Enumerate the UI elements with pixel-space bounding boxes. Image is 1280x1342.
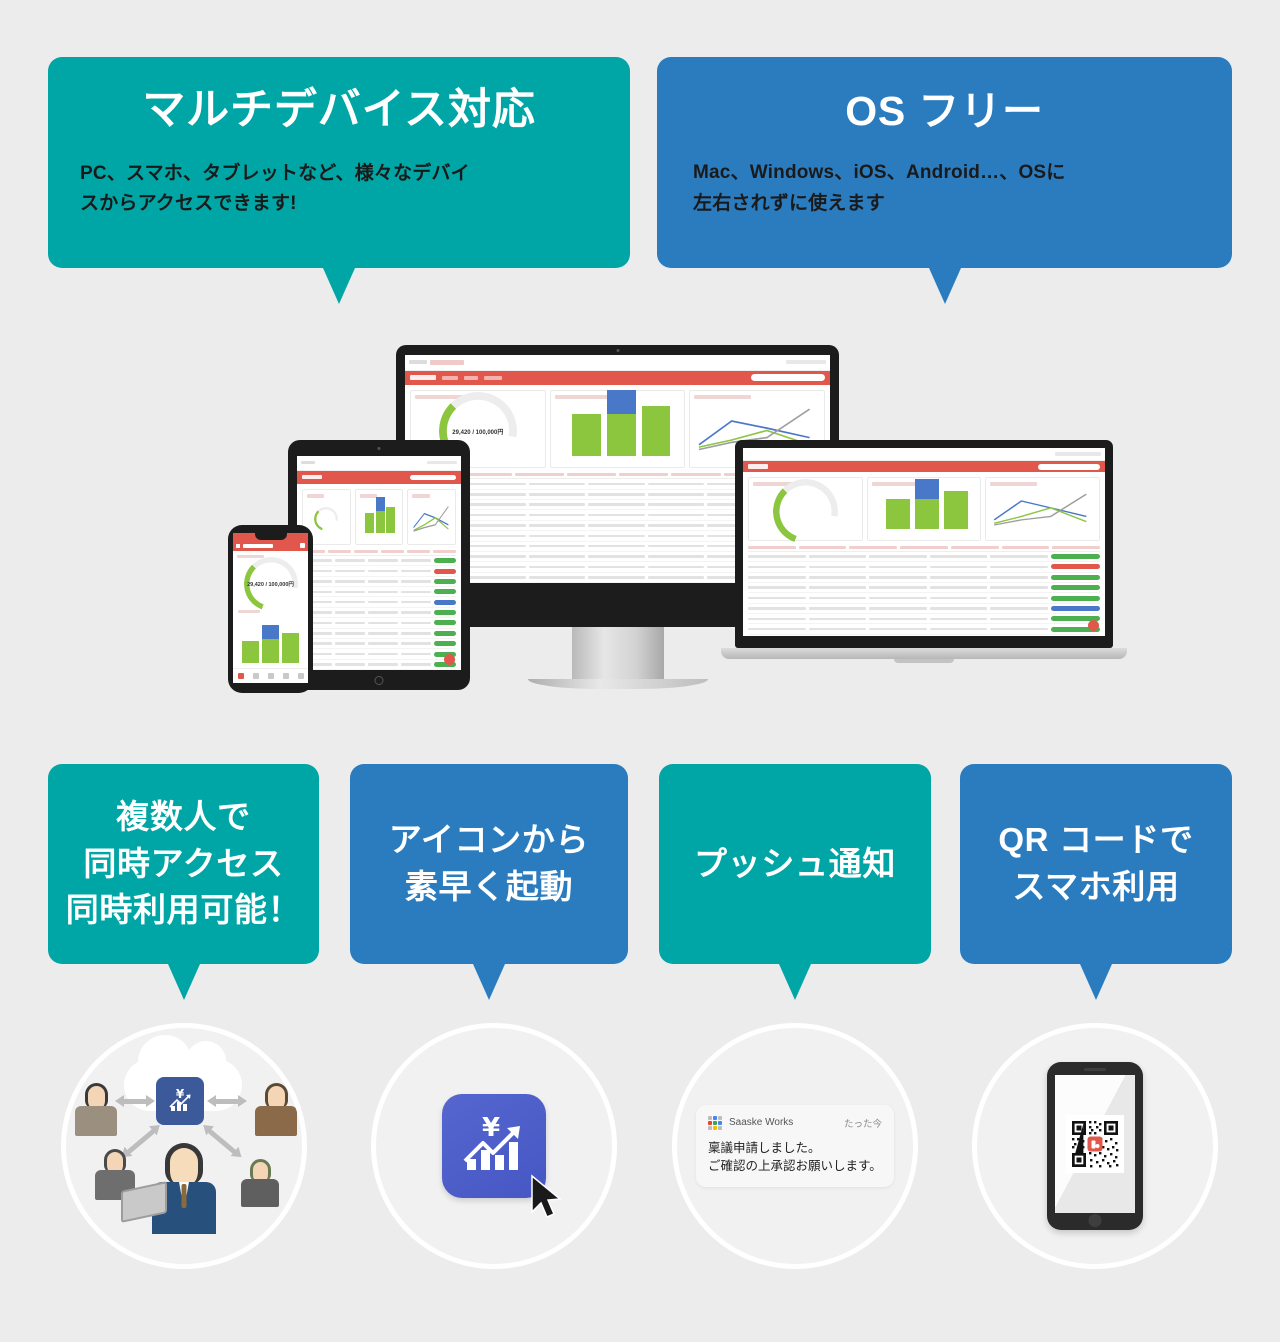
callout-title: マルチデバイス対応 (48, 57, 630, 137)
person-avatar (75, 1083, 117, 1136)
callout-line1: 複数人で (66, 794, 302, 841)
table-row[interactable] (302, 587, 456, 597)
bar-chart (555, 402, 681, 457)
callout-title: アイコンから 素早く起動 (350, 764, 628, 964)
widget-line-chart (985, 477, 1100, 540)
callout-line2: スマホ利用 (998, 864, 1193, 911)
device-mockup-group: 29,420 / 100,000円 (0, 330, 1280, 730)
callout-line1: QR コードで (998, 817, 1193, 864)
line-chart (990, 489, 1095, 528)
yen-growth-chart-app-icon[interactable]: ¥ (442, 1094, 546, 1198)
callout-line1: アイコンから (389, 817, 589, 864)
table-row[interactable] (302, 608, 456, 618)
callout-body-line1: PC、スマホ、タブレットなど、様々なデバイ (80, 159, 596, 189)
table-row[interactable] (748, 562, 1100, 572)
app-navigation-bar[interactable] (405, 371, 830, 385)
help-fab-button[interactable] (1088, 620, 1099, 631)
phone-speaker (1084, 1068, 1106, 1071)
callout-tail (1080, 964, 1112, 1000)
phone-notch (255, 533, 287, 540)
callout-body: PC、スマホ、タブレットなど、様々なデバイ スからアクセスできます! (48, 137, 630, 220)
line-chart (412, 501, 451, 533)
table-row[interactable] (302, 629, 456, 639)
notification-app-name: Saaske Works (729, 1117, 793, 1128)
table-row[interactable] (302, 618, 456, 628)
notification-message-line2: ご確認の上承認お願いします。 (708, 1157, 882, 1175)
callout-title: 複数人で 同時アクセス 同時利用可能！ (48, 764, 319, 964)
table-row[interactable] (302, 597, 456, 607)
table-row[interactable] (748, 635, 1100, 636)
bar-chart (238, 617, 303, 663)
tablet-camera-icon (378, 447, 381, 450)
callout-line1: プッシュ通知 (694, 841, 896, 888)
bar-chart (872, 489, 977, 528)
laptop (735, 440, 1113, 663)
table-row[interactable] (748, 624, 1100, 634)
tab-menu-icon[interactable] (293, 669, 308, 683)
table-row[interactable] (302, 556, 456, 566)
illustration-qr-code (972, 1023, 1218, 1269)
app-header-bar[interactable] (233, 540, 308, 551)
browser-toolbar (297, 456, 461, 471)
browser-toolbar (743, 448, 1105, 461)
svg-text:¥: ¥ (176, 1087, 185, 1101)
monitor-stand-base (528, 679, 708, 689)
callout-multi-device: マルチデバイス対応 PC、スマホ、タブレットなど、様々なデバイ スからアクセスで… (48, 57, 630, 268)
tab-list-icon[interactable] (248, 669, 263, 683)
saaske-works-mark-icon (708, 1116, 722, 1130)
notification-card[interactable]: Saaske Works たった今 稟議申請しました。 ご確認の上承認お願いしま… (696, 1105, 894, 1187)
yen-growth-chart-icon: ¥ (156, 1077, 204, 1125)
table-header-row (302, 548, 456, 556)
callout-body-line1: Mac、Windows、iOS、Android…、OSに (693, 158, 1202, 188)
laptop-base (721, 648, 1127, 659)
callout-qr-code: QR コードで スマホ利用 (960, 764, 1232, 964)
notification-message-line1: 稟議申請しました。 (708, 1139, 882, 1157)
illustration-multi-user: ¥ (61, 1023, 307, 1269)
widget-line-chart (407, 489, 456, 545)
phone-widget-bar (233, 606, 308, 663)
gauge-value: 29,420 / 100,000円 (452, 427, 503, 436)
mouse-cursor-icon (526, 1172, 572, 1224)
callout-push-notification: プッシュ通知 (659, 764, 931, 964)
browser-toolbar (405, 355, 830, 371)
table-row[interactable] (748, 614, 1100, 624)
app-navigation-bar[interactable] (297, 471, 461, 484)
laptop-trackpad-notch (894, 659, 954, 663)
help-fab-button[interactable] (444, 654, 455, 665)
table-row[interactable] (302, 639, 456, 649)
table-row[interactable] (302, 660, 456, 670)
double-arrow-icon (123, 1099, 147, 1104)
table-row[interactable] (748, 583, 1100, 593)
callout-icon-launch: アイコンから 素早く起動 (350, 764, 628, 964)
callout-title: プッシュ通知 (659, 764, 931, 964)
widget-bar-chart (867, 477, 982, 540)
qr-code-icon[interactable] (1066, 1115, 1124, 1173)
smartphone: 29,420 / 100,000円 (228, 525, 313, 693)
table-row[interactable] (302, 577, 456, 587)
widget-bar-chart (355, 489, 404, 545)
callout-tail (323, 268, 355, 304)
illustration-icon-launch: ¥ (371, 1023, 617, 1269)
dashboard-data-table[interactable] (743, 544, 1105, 636)
tab-home-icon[interactable] (233, 669, 248, 683)
tablet (288, 440, 470, 690)
table-row[interactable] (748, 593, 1100, 603)
table-row[interactable] (748, 604, 1100, 614)
laptop-screen (743, 448, 1105, 636)
illustration-push-notification: Saaske Works たった今 稟議申請しました。 ご確認の上承認お願いしま… (672, 1023, 918, 1269)
phone-home-button[interactable] (1089, 1214, 1102, 1227)
monitor-camera-icon (616, 349, 619, 352)
dashboard-data-table[interactable] (297, 548, 461, 670)
gauge-chart (753, 489, 858, 533)
dashboard-widget-row (297, 484, 461, 548)
gauge-chart: 29,420 / 100,000円 (237, 562, 304, 606)
phone-widget-gauge: 29,420 / 100,000円 (233, 551, 308, 606)
person-avatar (241, 1159, 279, 1207)
callout-multi-user: 複数人で 同時アクセス 同時利用可能！ (48, 764, 319, 964)
app-navigation-bar[interactable] (743, 461, 1105, 472)
callout-tail (929, 268, 961, 304)
callout-body: Mac、Windows、iOS、Android…、OSに 左右されずに使えます (657, 136, 1232, 219)
smartphone-icon (1047, 1062, 1143, 1230)
saaske-logo-icon (1088, 1137, 1103, 1152)
svg-text:¥: ¥ (482, 1113, 500, 1143)
monitor-stand-neck (572, 627, 664, 679)
tablet-screen (297, 456, 461, 670)
phone-tab-bar[interactable] (233, 668, 308, 683)
table-row[interactable] (748, 552, 1100, 562)
callout-title: OS フリー (657, 57, 1232, 136)
callout-tail (473, 964, 505, 1000)
gauge-value: 29,420 / 100,000円 (247, 580, 294, 588)
dashboard-widget-row (743, 472, 1105, 543)
callout-title: QR コードで スマホ利用 (960, 764, 1232, 964)
notification-time: たった今 (844, 1116, 882, 1130)
callout-tail (779, 964, 811, 1000)
bar-chart (360, 501, 399, 533)
callout-line2: 素早く起動 (389, 864, 589, 911)
table-header-row (748, 544, 1100, 552)
tab-add-icon[interactable] (263, 669, 278, 683)
phone-screen (1055, 1075, 1135, 1213)
widget-bar-chart (550, 390, 686, 469)
double-arrow-icon (215, 1099, 239, 1104)
table-row[interactable] (302, 566, 456, 576)
callout-body-line2: 左右されずに使えます (693, 189, 1202, 219)
tablet-home-button[interactable] (375, 676, 384, 685)
callout-os-free: OS フリー Mac、Windows、iOS、Android…、OSに 左右され… (657, 57, 1232, 268)
widget-budget-gauge (748, 477, 863, 540)
tab-search-icon[interactable] (278, 669, 293, 683)
phone-screen: 29,420 / 100,000円 (233, 533, 308, 683)
callout-tail (168, 964, 200, 1000)
callout-body-line2: スからアクセスできます! (80, 189, 596, 219)
callout-line2: 同時アクセス (66, 841, 302, 888)
dashboard-laptop (743, 448, 1105, 636)
table-row[interactable] (302, 649, 456, 659)
table-row[interactable] (748, 573, 1100, 583)
person-avatar (255, 1083, 297, 1136)
dashboard-tablet (297, 456, 461, 670)
callout-line3: 同時利用可能！ (66, 887, 302, 934)
